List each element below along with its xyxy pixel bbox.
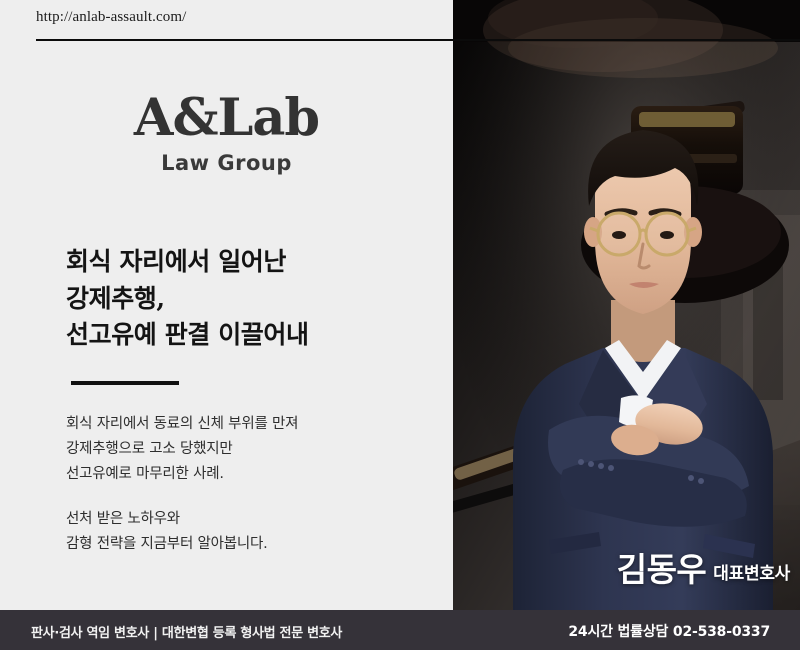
attorney-name-overlay: 김동우 대표변호사 <box>617 553 790 586</box>
attorney-photo-illustration <box>453 0 800 610</box>
logo-tagline: Law Group <box>0 153 453 174</box>
title-divider <box>71 381 179 385</box>
url-bar: http://anlab-assault.com/ <box>0 0 453 41</box>
brand-logo[interactable]: A&Lab Law Group <box>0 93 453 174</box>
attorney-role: 대표변호사 <box>713 563 790 586</box>
footer-credentials: 판사·검사 역임 변호사 | 대한변협 등록 형사법 전문 변호사 <box>31 622 342 641</box>
content-panel: A&Lab Law Group 회식 자리에서 일어난 강제추행, 선고유예 판… <box>0 41 453 610</box>
footer-bar: 판사·검사 역임 변호사 | 대한변협 등록 형사법 전문 변호사 24시간 법… <box>0 610 800 650</box>
logo-wordmark: A&Lab <box>0 93 453 144</box>
attorney-photo: 김동우 대표변호사 <box>453 0 800 610</box>
case-strategy-paragraph: 선처 받은 노하우와 감형 전략을 지금부터 알아봅니다. <box>66 507 268 557</box>
case-summary-paragraph: 회식 자리에서 동료의 신체 부위를 만져 강제추행으로 고소 당했지만 선고유… <box>66 412 298 487</box>
footer-consult-phone[interactable]: 24시간 법률상담 02-538-0337 <box>568 621 770 641</box>
header-divider-rule <box>36 39 800 41</box>
url-text[interactable]: http://anlab-assault.com/ <box>36 9 186 26</box>
attorney-name: 김동우 <box>617 553 707 586</box>
promo-banner: http://anlab-assault.com/ <box>0 0 800 650</box>
page-title: 회식 자리에서 일어난 강제추행, 선고유예 판결 이끌어내 <box>66 244 309 354</box>
